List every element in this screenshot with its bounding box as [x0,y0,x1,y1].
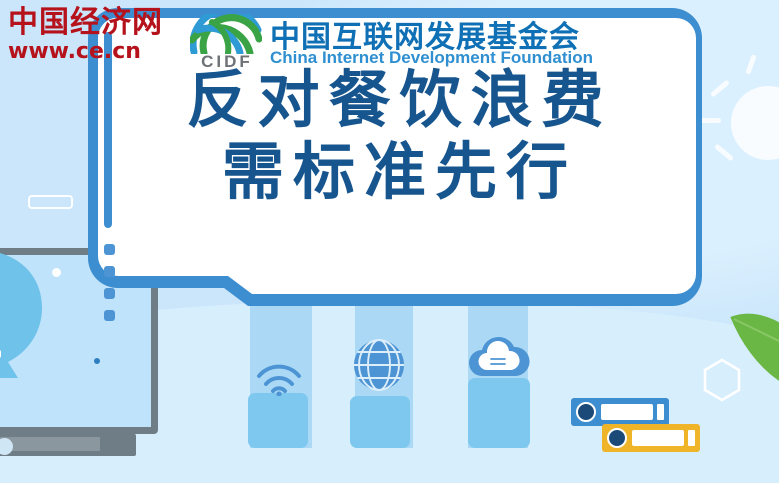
globe-icon [350,336,408,399]
card-dot [104,244,115,255]
cloud-icon [466,336,532,383]
card-dot [104,266,115,277]
card-dot [104,288,115,299]
cidf-title-en: China Internet Development Foundation [270,48,593,68]
monitor-foot [0,437,100,451]
site-logo-title: 中国经济网 [8,8,184,38]
binder-yellow [602,424,700,452]
arc-bridge-icon [190,14,262,54]
headline-line-1: 反对餐饮浪费 [98,64,692,136]
china-economic-net-logo[interactable]: 中国经济网 www.ce.cn [8,8,184,70]
rounded-rect-outline [28,195,73,209]
card-dot [104,310,115,321]
wifi-icon [254,362,304,401]
card-dot-list [104,244,118,332]
head-profile-icon [0,250,80,425]
headline-block: 反对餐饮浪费 需标准先行 [98,64,692,208]
headline-line-2: 需标准先行 [98,136,692,208]
pedestal-globe [350,396,410,448]
decorative-dot [94,358,100,364]
cidf-logo[interactable]: CIDF 中国互联网发展基金会 China Internet Developme… [190,14,580,72]
pedestal-cloud [468,378,530,448]
decorative-dot [52,268,61,277]
cidf-abbr: CIDF [192,52,262,72]
poster-canvas: 反对餐饮浪费 需标准先行 中国经济网 www.ce.cn CIDF 中国互联网发… [0,0,779,483]
hexagon-outline-icon [702,358,742,402]
site-logo-url: www.ce.cn [8,41,184,63]
pedestal-wifi [248,393,308,448]
binder-blue [571,398,669,426]
